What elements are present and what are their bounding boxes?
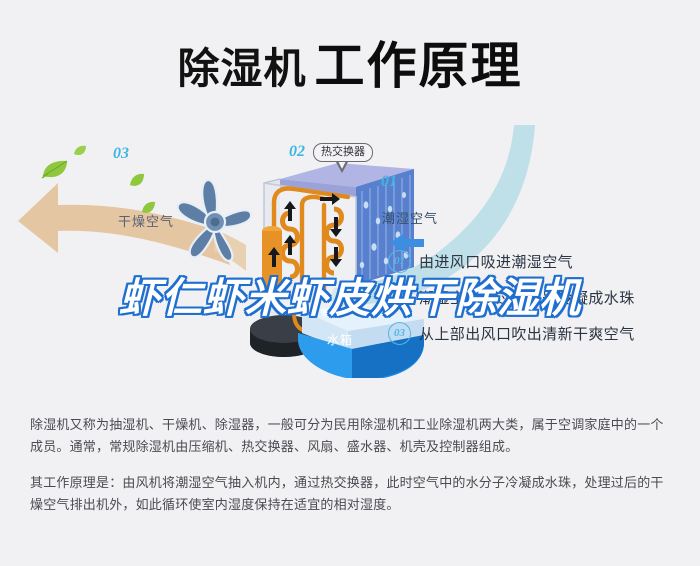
diagram-badge-03: 03 (113, 145, 129, 163)
leaf-icon (40, 159, 70, 181)
legend-badge-03: 03 (388, 322, 411, 345)
heat-exchanger-callout: 热交换器 (313, 143, 373, 162)
watermark-text: 虾仁虾米虾皮烘干除湿机 (0, 264, 700, 324)
leaf-icon (128, 173, 146, 189)
paragraph-2: 其工作原理是：由风机将潮湿空气抽入机内，通过热交换器，此时空气中的水分子冷凝成水… (30, 472, 670, 516)
water-tank-label: 水箱 (327, 331, 353, 348)
body-copy: 除湿机又称为抽湿机、干燥机、除湿器，一般可分为民用除湿机和工业除湿机两大类，属于… (30, 414, 670, 516)
title-primary: 除湿机 (177, 45, 306, 92)
diagram-badge-01: 01 (381, 173, 397, 191)
legend-text-03: 从上部出风口吹出清新干爽空气 (419, 323, 635, 344)
callout-tail (336, 162, 348, 173)
page-title: 除湿机工作原理 (0, 26, 700, 98)
dry-air-label: 干燥空气 (118, 211, 174, 230)
humid-air-label: 潮湿空气 (382, 208, 438, 227)
title-secondary: 工作原理 (315, 38, 523, 94)
paragraph-1: 除湿机又称为抽湿机、干燥机、除湿器，一般可分为民用除湿机和工业除湿机两大类，属于… (30, 414, 670, 458)
infographic-page: 除湿机工作原理 (0, 0, 700, 566)
diagram-badge-02: 02 (289, 143, 305, 161)
leaf-icon (73, 145, 87, 157)
